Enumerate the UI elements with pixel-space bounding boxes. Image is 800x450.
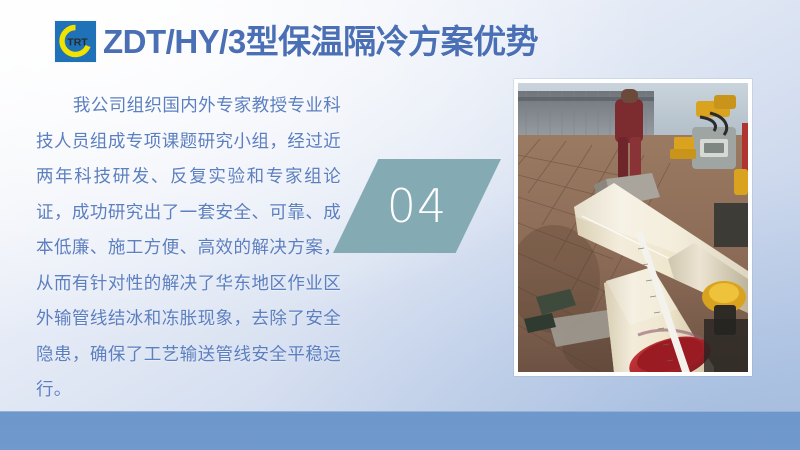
page-title: ZDT/HY/3型保温隔冷方案优势	[103, 25, 538, 58]
insulated-pipeline-photo	[518, 83, 748, 372]
svg-text:TRT: TRT	[67, 36, 88, 48]
trt-company-logo-icon: TRT	[55, 21, 96, 62]
body-paragraph: 我公司组织国内外专家教授专业科技人员组成专项课题研究小组，经过近两年科技研发、反…	[36, 88, 341, 408]
section-number-badge: 04	[333, 159, 501, 253]
paragraph-text: 我公司组织国内外专家教授专业科技人员组成专项课题研究小组，经过近两年科技研发、反…	[36, 95, 341, 399]
photo-frame	[514, 79, 752, 376]
badge-number-label: 04	[333, 159, 501, 253]
slide-canvas: TRT ZDT/HY/3型保温隔冷方案优势 我公司组织国内外专家教授专业科技人员…	[0, 0, 800, 450]
footer-band	[0, 411, 800, 450]
slide-header: TRT ZDT/HY/3型保温隔冷方案优势	[55, 18, 538, 64]
